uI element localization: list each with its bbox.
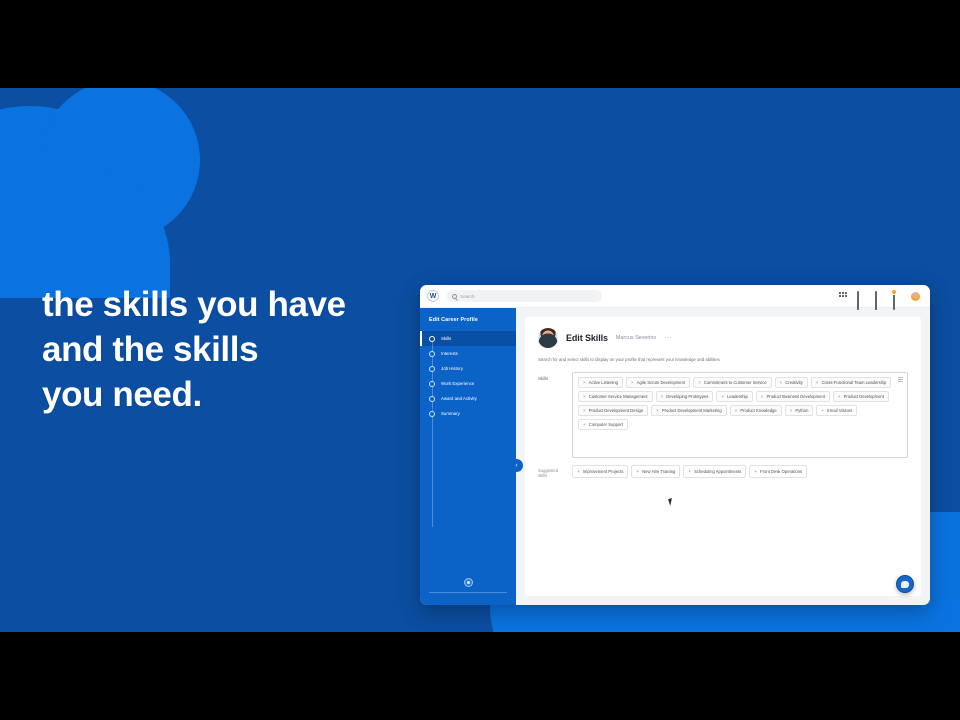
profile-avatar [538,328,558,348]
search-input[interactable]: Search [447,290,602,302]
skill-chip-label: Product Knowledge [740,408,776,413]
step-dot-icon [429,381,435,387]
skill-chip[interactable]: ×Leadership [716,391,752,402]
skill-chip[interactable]: ×Customer Service Management [578,391,653,402]
page-title: Edit Skills [566,333,608,343]
suggested-skill-chip[interactable]: +Scheduling Appointments [683,465,746,478]
skill-chip-label: Product Development [844,394,884,399]
chat-assistant-button[interactable] [896,575,914,593]
headline-line-2: and the skills [42,328,346,373]
sidebar-item-skills[interactable]: Skills [420,331,516,346]
remove-icon[interactable]: × [631,381,634,386]
skill-chip[interactable]: ×Product Business Development [756,391,830,402]
headline: the skills you have and the skills you n… [42,283,346,417]
skill-chip-label: Creativity [785,380,802,385]
suggested-skill-chip[interactable]: +Front Desk Operations [749,465,807,478]
sidebar-item-label: Interests [441,351,458,356]
remove-icon[interactable]: × [735,409,738,414]
skill-chip[interactable]: ×Product Development Design [578,405,648,416]
video-frame: the skills you have and the skills you n… [0,0,960,720]
prompt-menu-icon[interactable] [898,377,903,382]
skill-chip-label: Product Business Development [767,394,825,399]
headline-line-1: the skills you have [42,283,346,328]
add-icon[interactable]: + [754,470,757,475]
chat-bubble-icon [901,581,909,588]
remove-icon[interactable]: × [698,381,701,386]
suggested-skills-list: +Improvement Projects +New Hire Training… [572,465,908,478]
step-dot-icon [429,411,435,417]
skill-chip-label: Leadership [727,394,748,399]
person-name: Marcus Severino [616,335,656,341]
sidebar-item-label: Summary [441,411,460,416]
add-icon[interactable]: + [688,470,691,475]
skill-chip[interactable]: ×Active Listening [578,377,623,388]
remove-icon[interactable]: × [656,409,659,414]
chat-bubble-icon[interactable] [857,292,866,301]
sidebar-item-label: Award and Activity [441,396,477,401]
skill-chip-label: Commitment to Customer Service [704,380,767,385]
skill-chip[interactable]: ×Creativity [775,377,808,388]
skills-field-row: Skills ×Active Listening ×Agile Scrum De… [538,372,908,458]
apps-grid-icon[interactable] [839,292,848,301]
skill-chip-label: Agile Scrum Development [637,380,685,385]
sidebar-item-label: Job History [441,366,463,371]
headline-line-3: you need. [42,373,346,418]
skill-chip-label: Customer Service Management [589,394,648,399]
sidebar-item-job-history[interactable]: Job History [420,361,516,376]
sidebar-item-award-and-activity[interactable]: Award and Activity [420,391,516,406]
sidebar-bottom [420,578,516,587]
remove-icon[interactable]: × [816,381,819,386]
skill-chip[interactable]: +Computer Support [578,419,628,430]
skill-chip-label: Active Listening [589,380,618,385]
inbox-badge [891,289,897,295]
chevron-left-icon[interactable]: ‹ [510,459,523,472]
sidebar-divider [429,592,507,593]
card-header: Edit Skills Marcus Severino ··· [538,328,908,348]
step-dot-icon [429,336,435,342]
step-dot-icon [429,396,435,402]
skill-chip[interactable]: +Email Visitors [816,405,857,416]
remove-icon[interactable]: × [583,381,586,386]
sidebar: Edit Career Profile Skills Interests Job… [420,308,516,605]
skill-chip-label: Developing Prototypes [666,394,708,399]
remove-icon[interactable]: × [838,395,841,400]
skill-chip-label: Product Development Marketing [662,408,722,413]
user-avatar-icon[interactable] [911,292,920,301]
skill-chip[interactable]: ×Product Development Marketing [651,405,727,416]
skills-multiselect[interactable]: ×Active Listening ×Agile Scrum Developme… [572,372,908,458]
main-content: Edit Skills Marcus Severino ··· Search f… [516,308,930,605]
app-topbar: W Search [420,285,930,308]
suggested-skill-label: Improvement Projects [583,469,624,474]
app-window: W Search Ed [420,285,930,605]
remove-icon[interactable]: × [661,395,664,400]
step-dot-icon [429,366,435,372]
suggested-skill-label: Front Desk Operations [760,469,802,474]
slide-background: the skills you have and the skills you n… [0,88,960,632]
skill-chip-label: Email Visitors [827,408,852,413]
edit-skills-card: Edit Skills Marcus Severino ··· Search f… [525,317,921,596]
suggested-skill-chip[interactable]: +New Hire Training [631,465,680,478]
skill-chip-label: Cross-Functional Team Leadership [822,380,887,385]
remove-icon[interactable]: × [790,409,793,414]
suggested-skill-label: Scheduling Appointments [694,469,741,474]
suggested-skill-chip[interactable]: +Improvement Projects [572,465,628,478]
remove-icon[interactable]: × [583,409,586,414]
skills-field-label: Skills [538,372,564,458]
sidebar-item-label: Skills [441,336,451,341]
workday-logo-icon[interactable]: W [427,290,439,302]
search-placeholder: Search [460,294,475,299]
page-description: Search for and select skills to display … [538,357,908,363]
sidebar-item-label: Work Experience [441,381,474,386]
add-icon[interactable]: + [636,470,639,475]
add-icon[interactable]: + [583,423,586,428]
search-icon [452,294,457,299]
add-section-button[interactable] [464,578,473,587]
notification-bell-icon[interactable] [875,292,884,301]
skill-chip[interactable]: ×Cross-Functional Team Leadership [811,377,892,388]
sidebar-item-interests[interactable]: Interests [420,346,516,361]
skill-chip[interactable]: ×Product Development [833,391,889,402]
remove-icon[interactable]: × [780,381,783,386]
add-icon[interactable]: + [577,470,580,475]
topbar-icons [839,292,923,301]
suggested-skills-row: Suggested skills +Improvement Projects +… [538,465,908,478]
logo-letter: W [430,293,437,300]
add-icon[interactable]: + [821,409,824,414]
inbox-icon[interactable] [893,292,902,301]
app-body: Edit Career Profile Skills Interests Job… [420,308,930,605]
skill-chip[interactable]: ×Developing Prototypes [656,391,714,402]
skill-chip[interactable]: ×Python [785,405,814,416]
more-actions-button[interactable]: ··· [664,335,672,341]
skill-chip-label: Python [795,408,808,413]
sidebar-rail [432,336,433,527]
skill-chip[interactable]: ×Product Knowledge [730,405,782,416]
skill-chip[interactable]: ×Commitment to Customer Service [693,377,772,388]
remove-icon[interactable]: × [583,395,586,400]
sidebar-item-work-experience[interactable]: Work Experience [420,376,516,391]
remove-icon[interactable]: × [721,395,724,400]
sidebar-title: Edit Career Profile [420,317,516,331]
sidebar-item-summary[interactable]: Summary [420,406,516,421]
remove-icon[interactable]: × [761,395,764,400]
skill-chip[interactable]: ×Agile Scrum Development [626,377,690,388]
suggested-skills-label: Suggested skills [538,465,564,478]
suggested-skill-label: New Hire Training [642,469,675,474]
skill-chip-label: Product Development Design [589,408,643,413]
step-dot-icon [429,351,435,357]
skill-chip-label: Computer Support [589,422,623,427]
